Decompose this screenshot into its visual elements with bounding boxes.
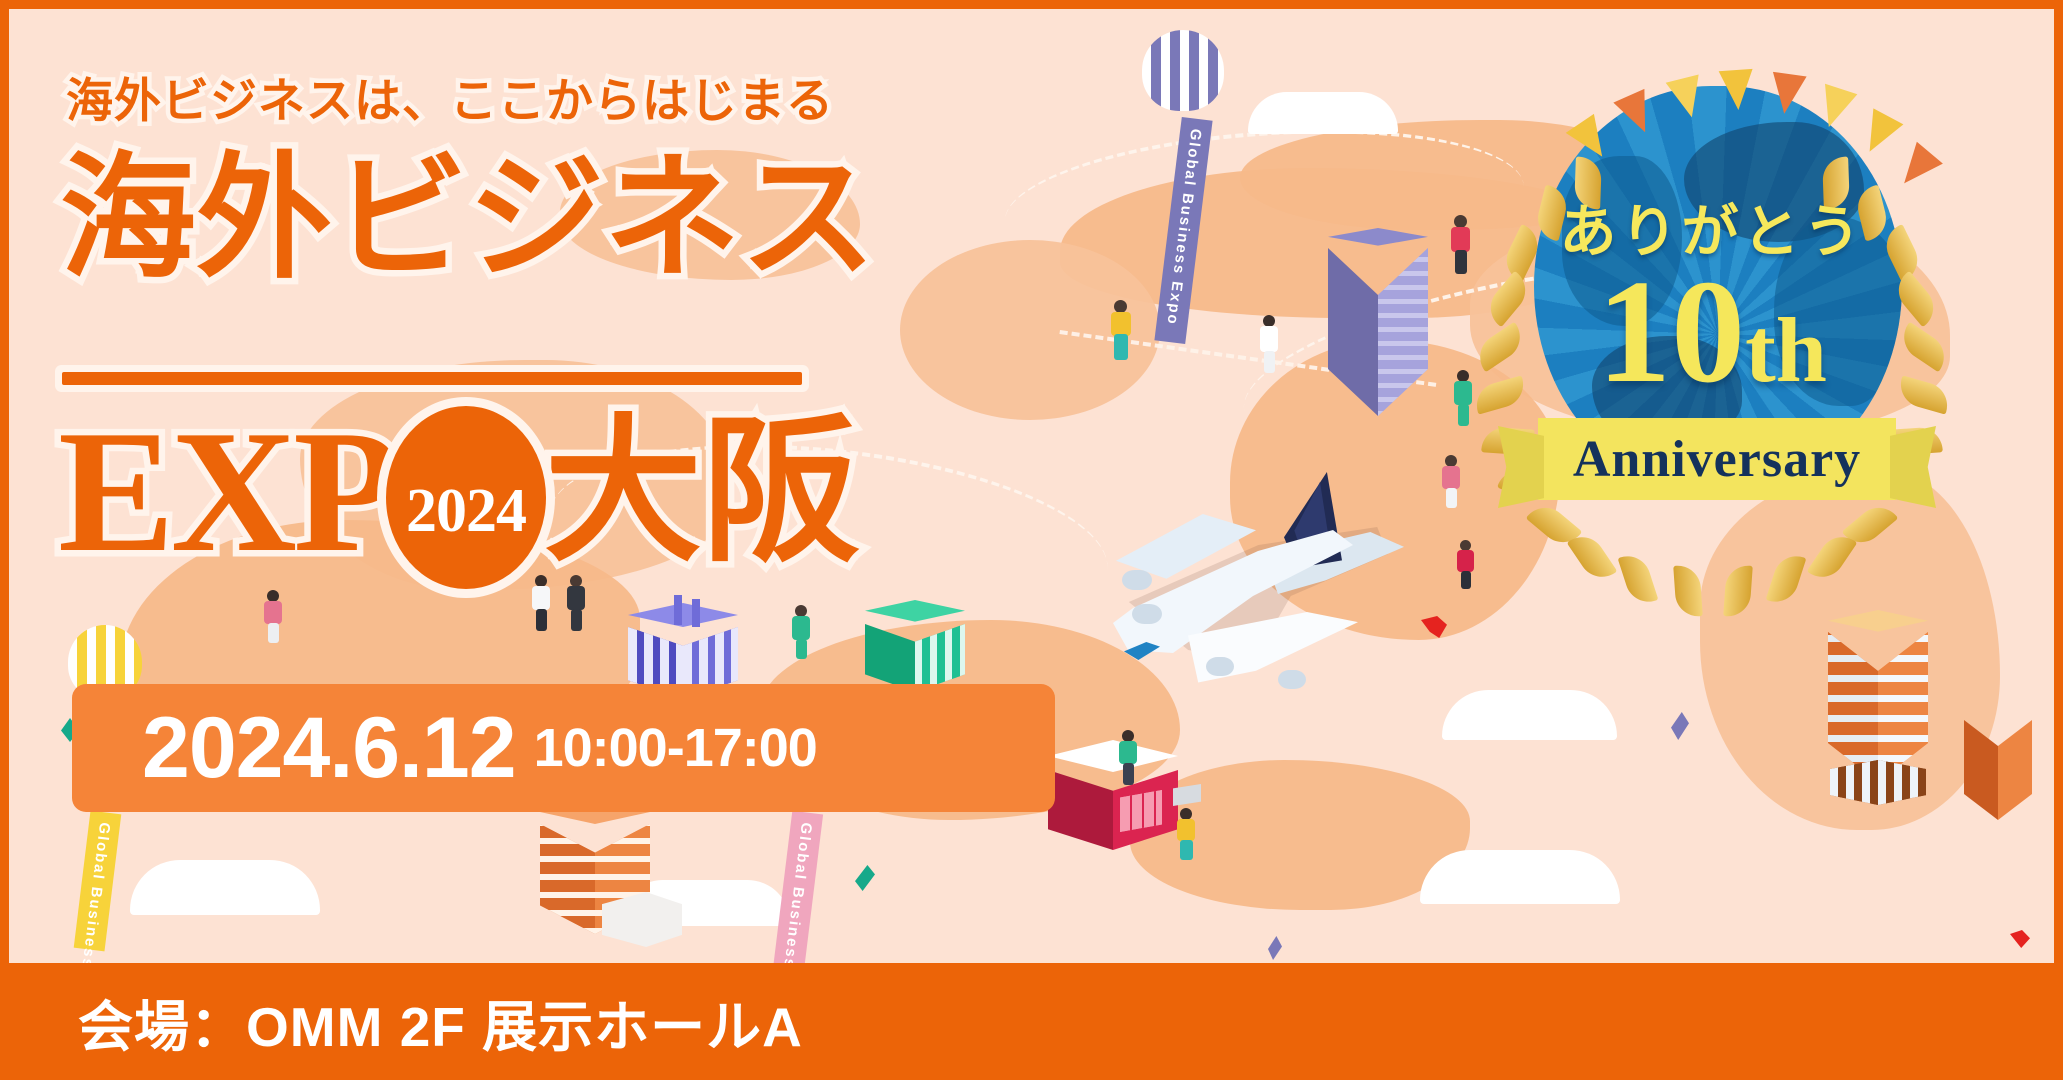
anniversary-badge: ありがとう 10th Anniversary: [1462, 68, 1962, 588]
cloud-5: [1420, 850, 1620, 904]
confetti-purple-2: [1268, 936, 1282, 960]
confetti-purple-1: [1671, 712, 1689, 740]
building-purple-tower: [1320, 228, 1440, 423]
building-small-bottom: [1960, 700, 2040, 830]
title-line-2: EXP 2024 大阪: [58, 400, 860, 583]
year-badge-label: 2024: [406, 476, 526, 547]
purple-balloon: [1142, 30, 1224, 122]
confetti-red-2: [2010, 930, 2030, 948]
cloud-1: [1248, 92, 1398, 134]
cloud-2: [1442, 690, 1617, 740]
confetti-green-2: [855, 865, 875, 891]
bunting-flag: [1719, 69, 1756, 111]
title-divider-rule: [62, 372, 802, 385]
building-orange-tower: [1818, 610, 1938, 810]
title-city-text: 大阪: [544, 413, 860, 571]
yellow-balloon-banner: Global Business Expo: [74, 811, 122, 952]
anniversary-ribbon-label: Anniversary: [1573, 430, 1861, 489]
tagline: 海外ビジネスは、ここからはじまる: [66, 62, 834, 131]
airplane-icon: [1088, 452, 1408, 702]
expo-banner: Global Business Expo Global Business Exp…: [0, 0, 2063, 1080]
year-badge-circle: 2024: [386, 406, 546, 589]
venue-text: 会場：OMM 2F 展示ホールA: [78, 982, 803, 1062]
title-line-1: 海外ビジネス: [60, 150, 876, 286]
anniversary-ribbon: Anniversary: [1538, 418, 1896, 500]
building-orange-left: [530, 800, 690, 950]
venue-footer-bar: 会場：OMM 2F 展示ホールA: [0, 963, 2063, 1080]
event-date-bar: 2024.6.12 10:00-17:00: [72, 684, 1055, 812]
anniversary-number: 10th: [1462, 258, 1962, 406]
cloud-3: [130, 860, 320, 915]
anniversary-number-value: 10: [1597, 250, 1745, 414]
event-time: 10:00-17:00: [534, 721, 817, 775]
anniversary-ordinal: th: [1745, 299, 1827, 401]
event-date: 2024.6.12: [142, 705, 516, 791]
pink-banner: Global Business Expo: [772, 811, 823, 963]
title-expo-text: EXP: [58, 404, 396, 579]
